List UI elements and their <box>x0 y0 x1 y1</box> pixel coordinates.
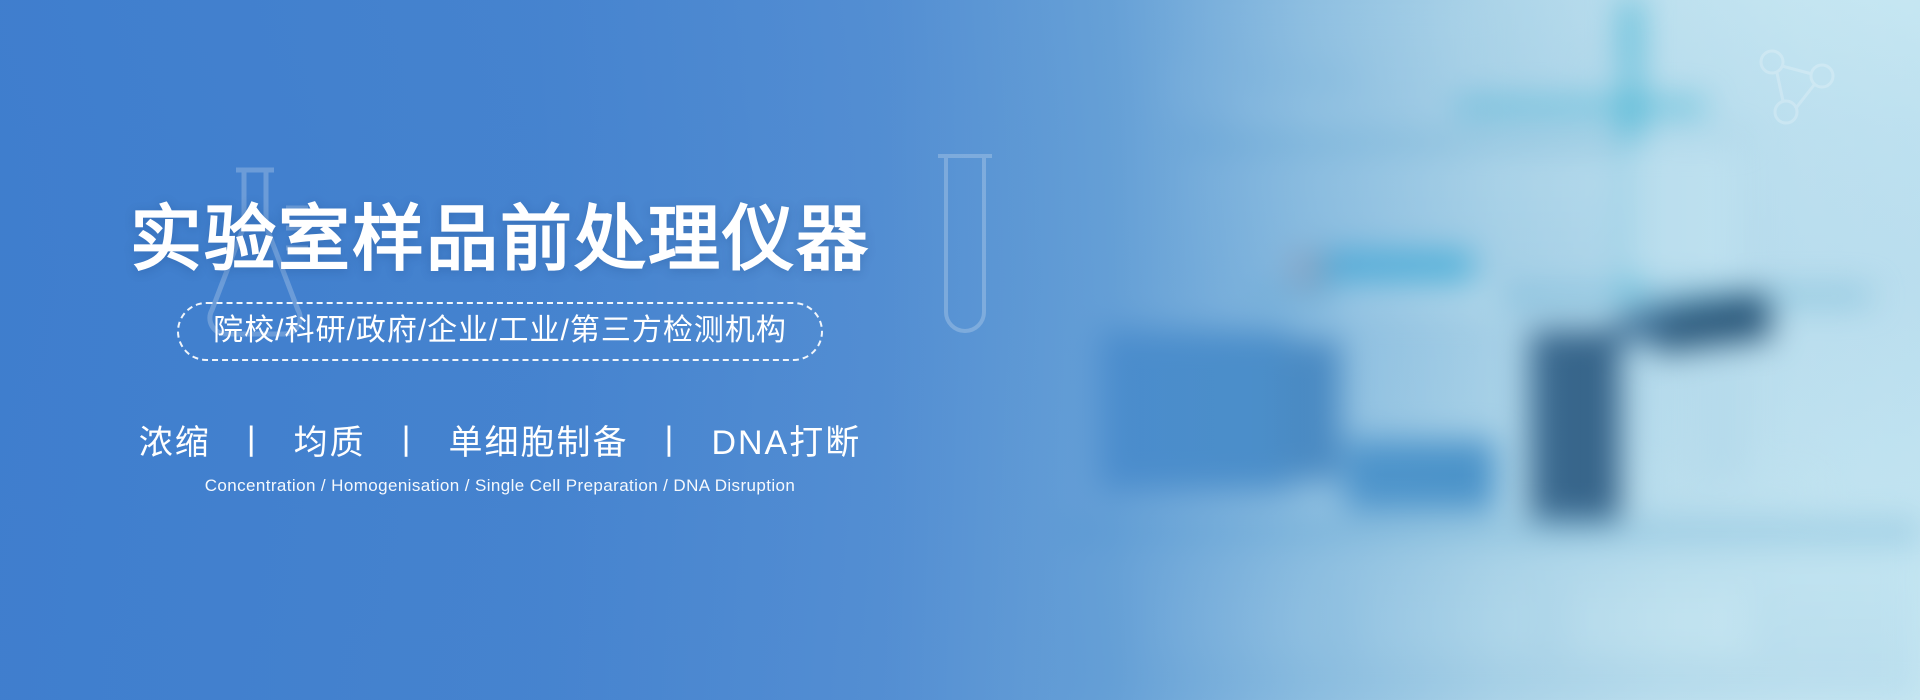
page-title: 实验室样品前处理仪器 <box>130 204 870 276</box>
keyword-item-2: 单细胞制备 <box>449 424 629 462</box>
keyword-item-0: 浓缩 <box>139 424 211 462</box>
keyword-item-1: 均质 <box>294 424 366 462</box>
keyword-item-3: DNA打断 <box>711 424 861 462</box>
tagline-badge: 院校/科研/政府/企业/工业/第三方检测机构 <box>177 302 823 361</box>
subtitle-english: Concentration / Homogenisation / Single … <box>205 476 796 496</box>
keyword-separator-1: 丨 <box>377 415 437 464</box>
keyword-separator-0: 丨 <box>222 415 282 464</box>
keyword-list: 浓缩 丨 均质 丨 单细胞制备 丨 DNA打断 <box>139 415 862 464</box>
hero-banner: 实验室样品前处理仪器 院校/科研/政府/企业/工业/第三方检测机构 浓缩 丨 均… <box>0 0 1920 700</box>
tagline-text: 院校/科研/政府/企业/工业/第三方检测机构 <box>213 314 787 347</box>
banner-content: 实验室样品前处理仪器 院校/科研/政府/企业/工业/第三方检测机构 浓缩 丨 均… <box>0 0 1000 700</box>
molecule-icon <box>1750 46 1846 137</box>
keyword-separator-2: 丨 <box>640 415 700 464</box>
